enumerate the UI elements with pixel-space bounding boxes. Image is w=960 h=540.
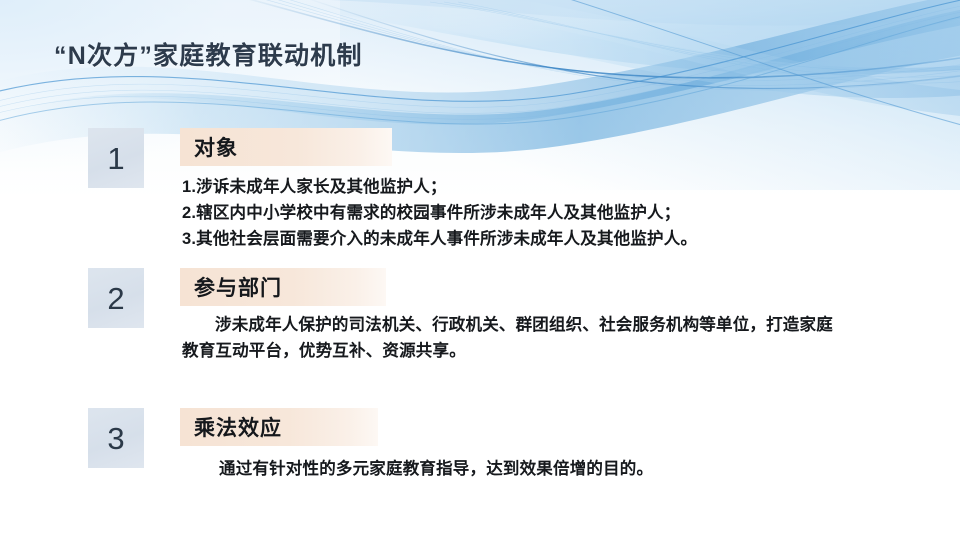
section-body-line: 通过有针对性的多元家庭教育指导，达到效果倍增的目的。 [186, 456, 926, 482]
section-heading-band-3: 乘法效应 [180, 408, 378, 446]
section-number-2: 2 [107, 283, 124, 314]
slide-canvas: “N次方”家庭教育联动机制 1 对象 1.涉诉未成年人家长及其他监护人； 2.辖… [0, 0, 960, 540]
section-heading-band-1: 对象 [180, 128, 392, 166]
section-body-1: 1.涉诉未成年人家长及其他监护人； 2.辖区内中小学校中有需求的校园事件所涉未成… [182, 174, 922, 252]
section-number-3: 3 [107, 423, 124, 454]
page-title: “N次方”家庭教育联动机制 [54, 36, 363, 72]
section-heading-band-2: 参与部门 [180, 268, 386, 306]
section-body-line: 教育互动平台，优势互补、资源共享。 [182, 338, 922, 364]
section-number-badge-1: 1 [88, 128, 144, 188]
section-heading-3: 乘法效应 [194, 412, 282, 442]
section-heading-2: 参与部门 [194, 272, 282, 302]
background-right-tint [340, 0, 960, 190]
section-body-2: 涉未成年人保护的司法机关、行政机关、群团组织、社会服务机构等单位，打造家庭 教育… [182, 312, 922, 364]
section-body-3: 通过有针对性的多元家庭教育指导，达到效果倍增的目的。 [186, 456, 926, 482]
section-body-line: 涉未成年人保护的司法机关、行政机关、群团组织、社会服务机构等单位，打造家庭 [182, 312, 922, 338]
section-number-1: 1 [107, 143, 124, 174]
section-number-badge-2: 2 [88, 268, 144, 328]
section-body-line: 1.涉诉未成年人家长及其他监护人； [182, 174, 922, 200]
section-body-line: 2.辖区内中小学校中有需求的校园事件所涉未成年人及其他监护人； [182, 200, 922, 226]
section-body-line: 3.其他社会层面需要介入的未成年人事件所涉未成年人及其他监护人。 [182, 226, 922, 252]
section-number-badge-3: 3 [88, 408, 144, 468]
section-heading-1: 对象 [194, 132, 238, 162]
